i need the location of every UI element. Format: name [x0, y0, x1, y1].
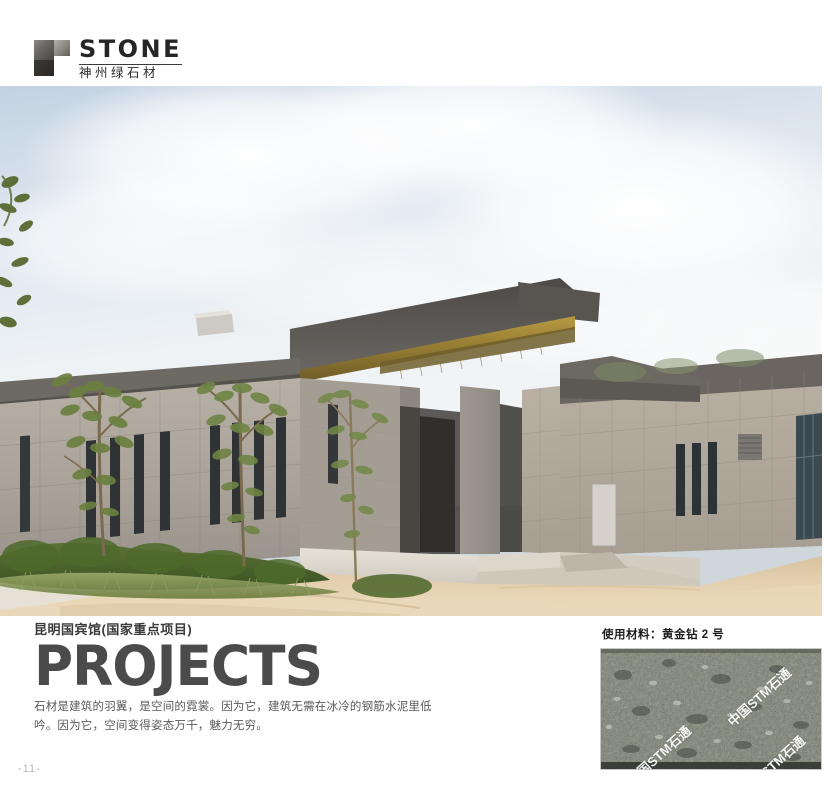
project-description: 石材是建筑的羽翼，是空间的霓裳。因为它，建筑无需在冰冷的钢筋水泥里低吟。因为它，…: [34, 698, 434, 736]
logo-square-bottom-left: [34, 60, 54, 76]
building-photograph: [0, 86, 822, 616]
brand-wordmark: STONE 神州绿石材: [79, 37, 182, 80]
brochure-page: STONE 神州绿石材: [0, 0, 828, 799]
brand-header: STONE 神州绿石材: [34, 36, 182, 80]
photo-vector: [0, 86, 822, 616]
brand-name-en: STONE: [79, 37, 182, 61]
material-block: 使用材料：黄金钻 2 号: [600, 626, 824, 770]
stone-tile-logo-icon: [34, 40, 70, 76]
brand-divider: [79, 64, 182, 65]
granite-swatch: 中国STM石通 中国STM石通 中国STM石通: [600, 648, 822, 770]
logo-square-bottom-right: [54, 56, 70, 76]
material-label: 使用材料：黄金钻 2 号: [602, 626, 824, 642]
granite-texture: [601, 649, 821, 769]
brand-name-cn: 神州绿石材: [79, 67, 182, 80]
project-caption: 昆明国宾馆(国家重点项目) PROJECTS 石材是建筑的羽翼，是空间的霓裳。因…: [34, 622, 554, 736]
page-number: -11-: [18, 763, 41, 775]
logo-square-top-left: [34, 40, 54, 60]
logo-square-top-right: [54, 40, 70, 56]
page-title: PROJECTS: [34, 640, 538, 692]
